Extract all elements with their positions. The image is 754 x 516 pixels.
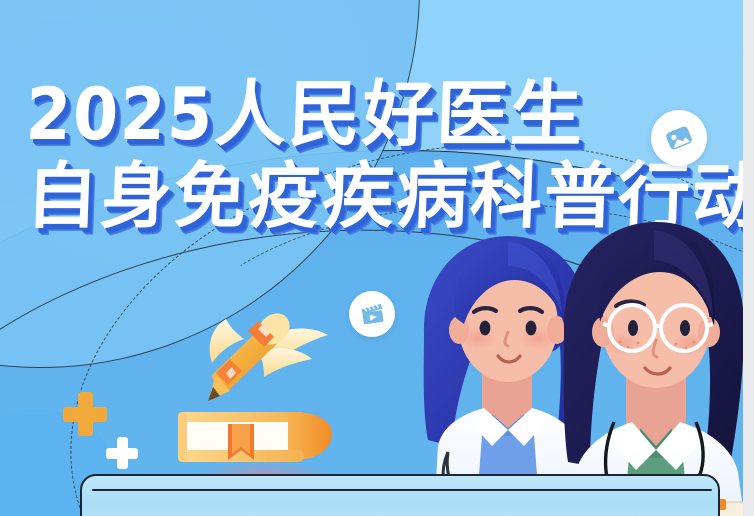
- poster-headline: 2025人民好医生 自身免疫疾病科普行动: [26, 78, 754, 232]
- video-play-icon: [358, 300, 386, 328]
- bottom-panel-line: [92, 489, 712, 491]
- plus-white-icon: [106, 437, 138, 469]
- book-icon: [176, 410, 336, 472]
- doctor-right: [564, 222, 744, 516]
- headline-line-1: 2025人民好医生: [25, 78, 754, 150]
- image-icon: [662, 121, 696, 155]
- right-gutter: [743, 0, 754, 516]
- photo-badge[interactable]: [651, 110, 707, 166]
- doctors-illustration: [404, 214, 754, 516]
- bottom-panel: [80, 474, 720, 516]
- poster-canvas: 2025人民好医生 自身免疫疾病科普行动: [0, 0, 754, 516]
- winged-pencil-icon: [172, 305, 352, 415]
- video-badge[interactable]: [349, 291, 395, 337]
- plus-orange-icon: [63, 392, 107, 436]
